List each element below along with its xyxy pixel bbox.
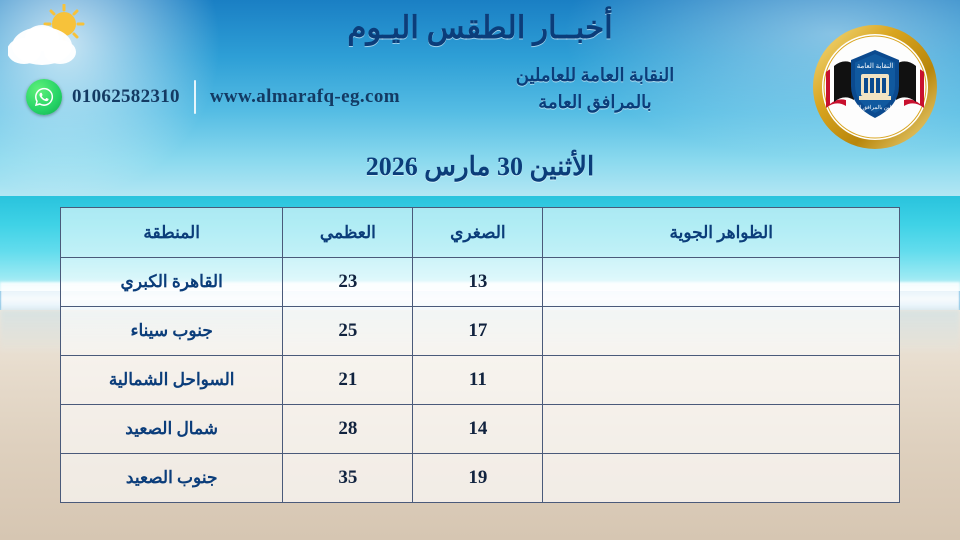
report-date: الأثنين 30 مارس 2026 xyxy=(0,152,960,182)
cell-min: 14 xyxy=(413,405,543,454)
column-header-phenomena: الظواهر الجوية xyxy=(543,208,900,258)
organization-line-2: بالمرافق العامة xyxy=(430,89,760,116)
column-header-min: الصغري xyxy=(413,208,543,258)
contact-bar: 01062582310 www.almarafq-eg.com xyxy=(26,78,400,116)
phone-number: 01062582310 xyxy=(72,86,180,108)
cell-phenomena xyxy=(543,454,900,503)
cell-max: 35 xyxy=(283,454,413,503)
column-header-region: المنطقة xyxy=(61,208,283,258)
cell-region: جنوب سيناء xyxy=(61,307,283,356)
cell-region: شمال الصعيد xyxy=(61,405,283,454)
table-header-row: الظواهر الجوية الصغري العظمي المنطقة xyxy=(61,208,900,258)
website-url[interactable]: www.almarafq-eg.com xyxy=(210,86,400,108)
svg-text:النقابة العامة: النقابة العامة xyxy=(857,62,893,70)
table-row: 11 21 السواحل الشمالية xyxy=(61,356,900,405)
cell-min: 13 xyxy=(413,258,543,307)
organization-name: النقابة العامة للعاملين بالمرافق العامة xyxy=(430,62,760,116)
cell-phenomena xyxy=(543,307,900,356)
divider xyxy=(194,80,196,114)
table-row: 13 23 القاهرة الكبري xyxy=(61,258,900,307)
cell-min: 17 xyxy=(413,307,543,356)
organization-line-1: النقابة العامة للعاملين xyxy=(430,62,760,89)
svg-text:للعاملين بالمرافق العامة: للعاملين بالمرافق العامة xyxy=(848,104,903,111)
union-emblem-icon: النقابة العامة للعاملين بالمرافق العامة xyxy=(812,24,938,150)
cell-min: 19 xyxy=(413,454,543,503)
cell-region: جنوب الصعيد xyxy=(61,454,283,503)
column-header-max: العظمي xyxy=(283,208,413,258)
whatsapp-icon[interactable] xyxy=(26,79,62,115)
cell-region: القاهرة الكبري xyxy=(61,258,283,307)
cell-max: 28 xyxy=(283,405,413,454)
cell-region: السواحل الشمالية xyxy=(61,356,283,405)
cell-max: 21 xyxy=(283,356,413,405)
cell-phenomena xyxy=(543,356,900,405)
table-row: 17 25 جنوب سيناء xyxy=(61,307,900,356)
cell-phenomena xyxy=(543,405,900,454)
cell-max: 23 xyxy=(283,258,413,307)
weather-table: الظواهر الجوية الصغري العظمي المنطقة 13 … xyxy=(60,207,900,503)
cell-min: 11 xyxy=(413,356,543,405)
cell-phenomena xyxy=(543,258,900,307)
weather-table-container: الظواهر الجوية الصغري العظمي المنطقة 13 … xyxy=(60,207,900,503)
table-row: 19 35 جنوب الصعيد xyxy=(61,454,900,503)
table-row: 14 28 شمال الصعيد xyxy=(61,405,900,454)
cell-max: 25 xyxy=(283,307,413,356)
